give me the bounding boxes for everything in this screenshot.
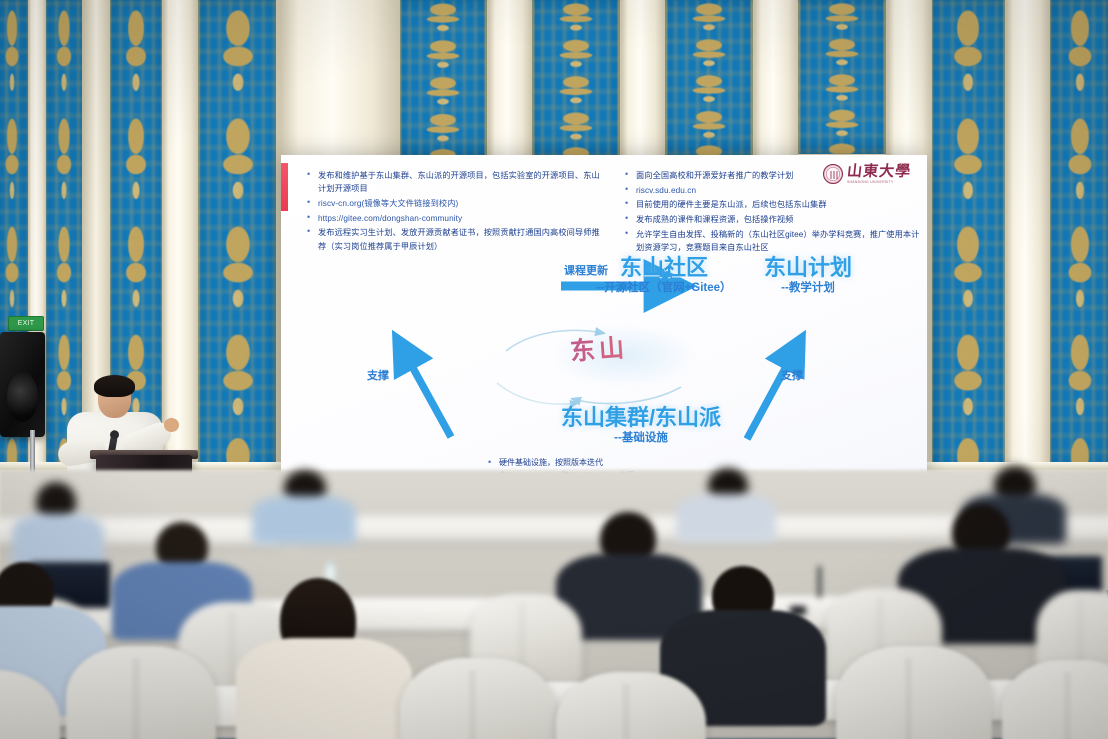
pa-speaker-icon — [0, 332, 45, 437]
wall-pilaster — [487, 0, 532, 158]
audience-area — [0, 470, 1108, 739]
node-title: 东山集群/东山派 — [476, 405, 806, 430]
conference-photo: EXIT 山東大學 SHANDONG UNIVERSITY 发布和维护基于东山集… — [0, 0, 1108, 739]
exit-sign: EXIT — [8, 316, 44, 331]
wall-pilaster — [753, 0, 798, 156]
wall-pilaster — [620, 0, 665, 157]
wall-panel — [397, 0, 489, 160]
node-dongshan-plan: 东山计划 --教学计划 — [693, 255, 923, 295]
node-subtitle: --教学计划 — [693, 281, 923, 295]
wall-panel — [1048, 0, 1108, 470]
arrow-label-support-left: 支撑 — [367, 367, 389, 383]
presenter-hand-right — [164, 418, 179, 432]
presenter-hair — [94, 375, 135, 397]
chair — [400, 658, 556, 739]
list-item: 硬件基础设施，按照版本迭代 — [486, 457, 816, 470]
wall-panel — [663, 0, 755, 156]
node-dongshan-infrastructure: 东山集群/东山派 --基础设施 — [476, 405, 806, 445]
wall-panel — [796, 0, 888, 154]
audience-torso — [676, 494, 776, 542]
audience-torso — [12, 514, 104, 566]
audience-torso — [236, 638, 412, 739]
arrow-label-course-update: 课程更新 — [564, 262, 608, 278]
wall-panel — [530, 0, 622, 158]
audience-torso — [252, 496, 356, 544]
wall-panel — [196, 0, 280, 470]
node-title: 东山计划 — [693, 255, 923, 280]
arrow-label-support-right: 支撑 — [781, 367, 803, 383]
chair — [66, 646, 216, 739]
node-subtitle: --基础设施 — [476, 431, 806, 445]
wall-panel — [929, 0, 1007, 470]
table-microphone — [818, 566, 821, 598]
chair — [836, 646, 992, 739]
wall-pilaster — [1005, 0, 1050, 470]
